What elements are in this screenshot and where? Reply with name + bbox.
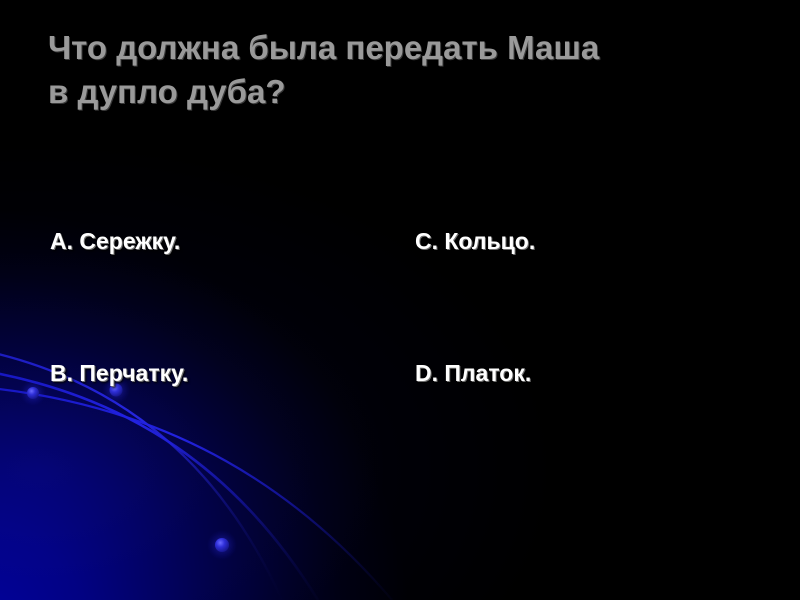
answer-option-b[interactable]: B. Перчатку. xyxy=(50,358,188,388)
orbit-dot-3 xyxy=(215,538,229,552)
answer-row-1: A. Сережку. C. Кольцо. xyxy=(0,208,800,340)
answer-options-list: A. Сережку. C. Кольцо. B. Перчатку. D. П… xyxy=(0,208,800,472)
orbit-dot-halo-3 xyxy=(207,530,237,560)
question-title-line-1: Что должна была передать Маша xyxy=(48,26,760,70)
question-title-line-2: в дупло дуба? xyxy=(48,70,760,114)
answer-row-2: B. Перчатку. D. Платок. xyxy=(0,340,800,472)
answer-option-c[interactable]: C. Кольцо. xyxy=(415,226,535,256)
answer-option-a[interactable]: A. Сережку. xyxy=(50,226,180,256)
question-title: Что должна была передать Маша в дупло ду… xyxy=(48,26,760,114)
answer-option-d[interactable]: D. Платок. xyxy=(415,358,531,388)
presentation-slide: Что должна была передать Маша в дупло ду… xyxy=(0,0,800,600)
